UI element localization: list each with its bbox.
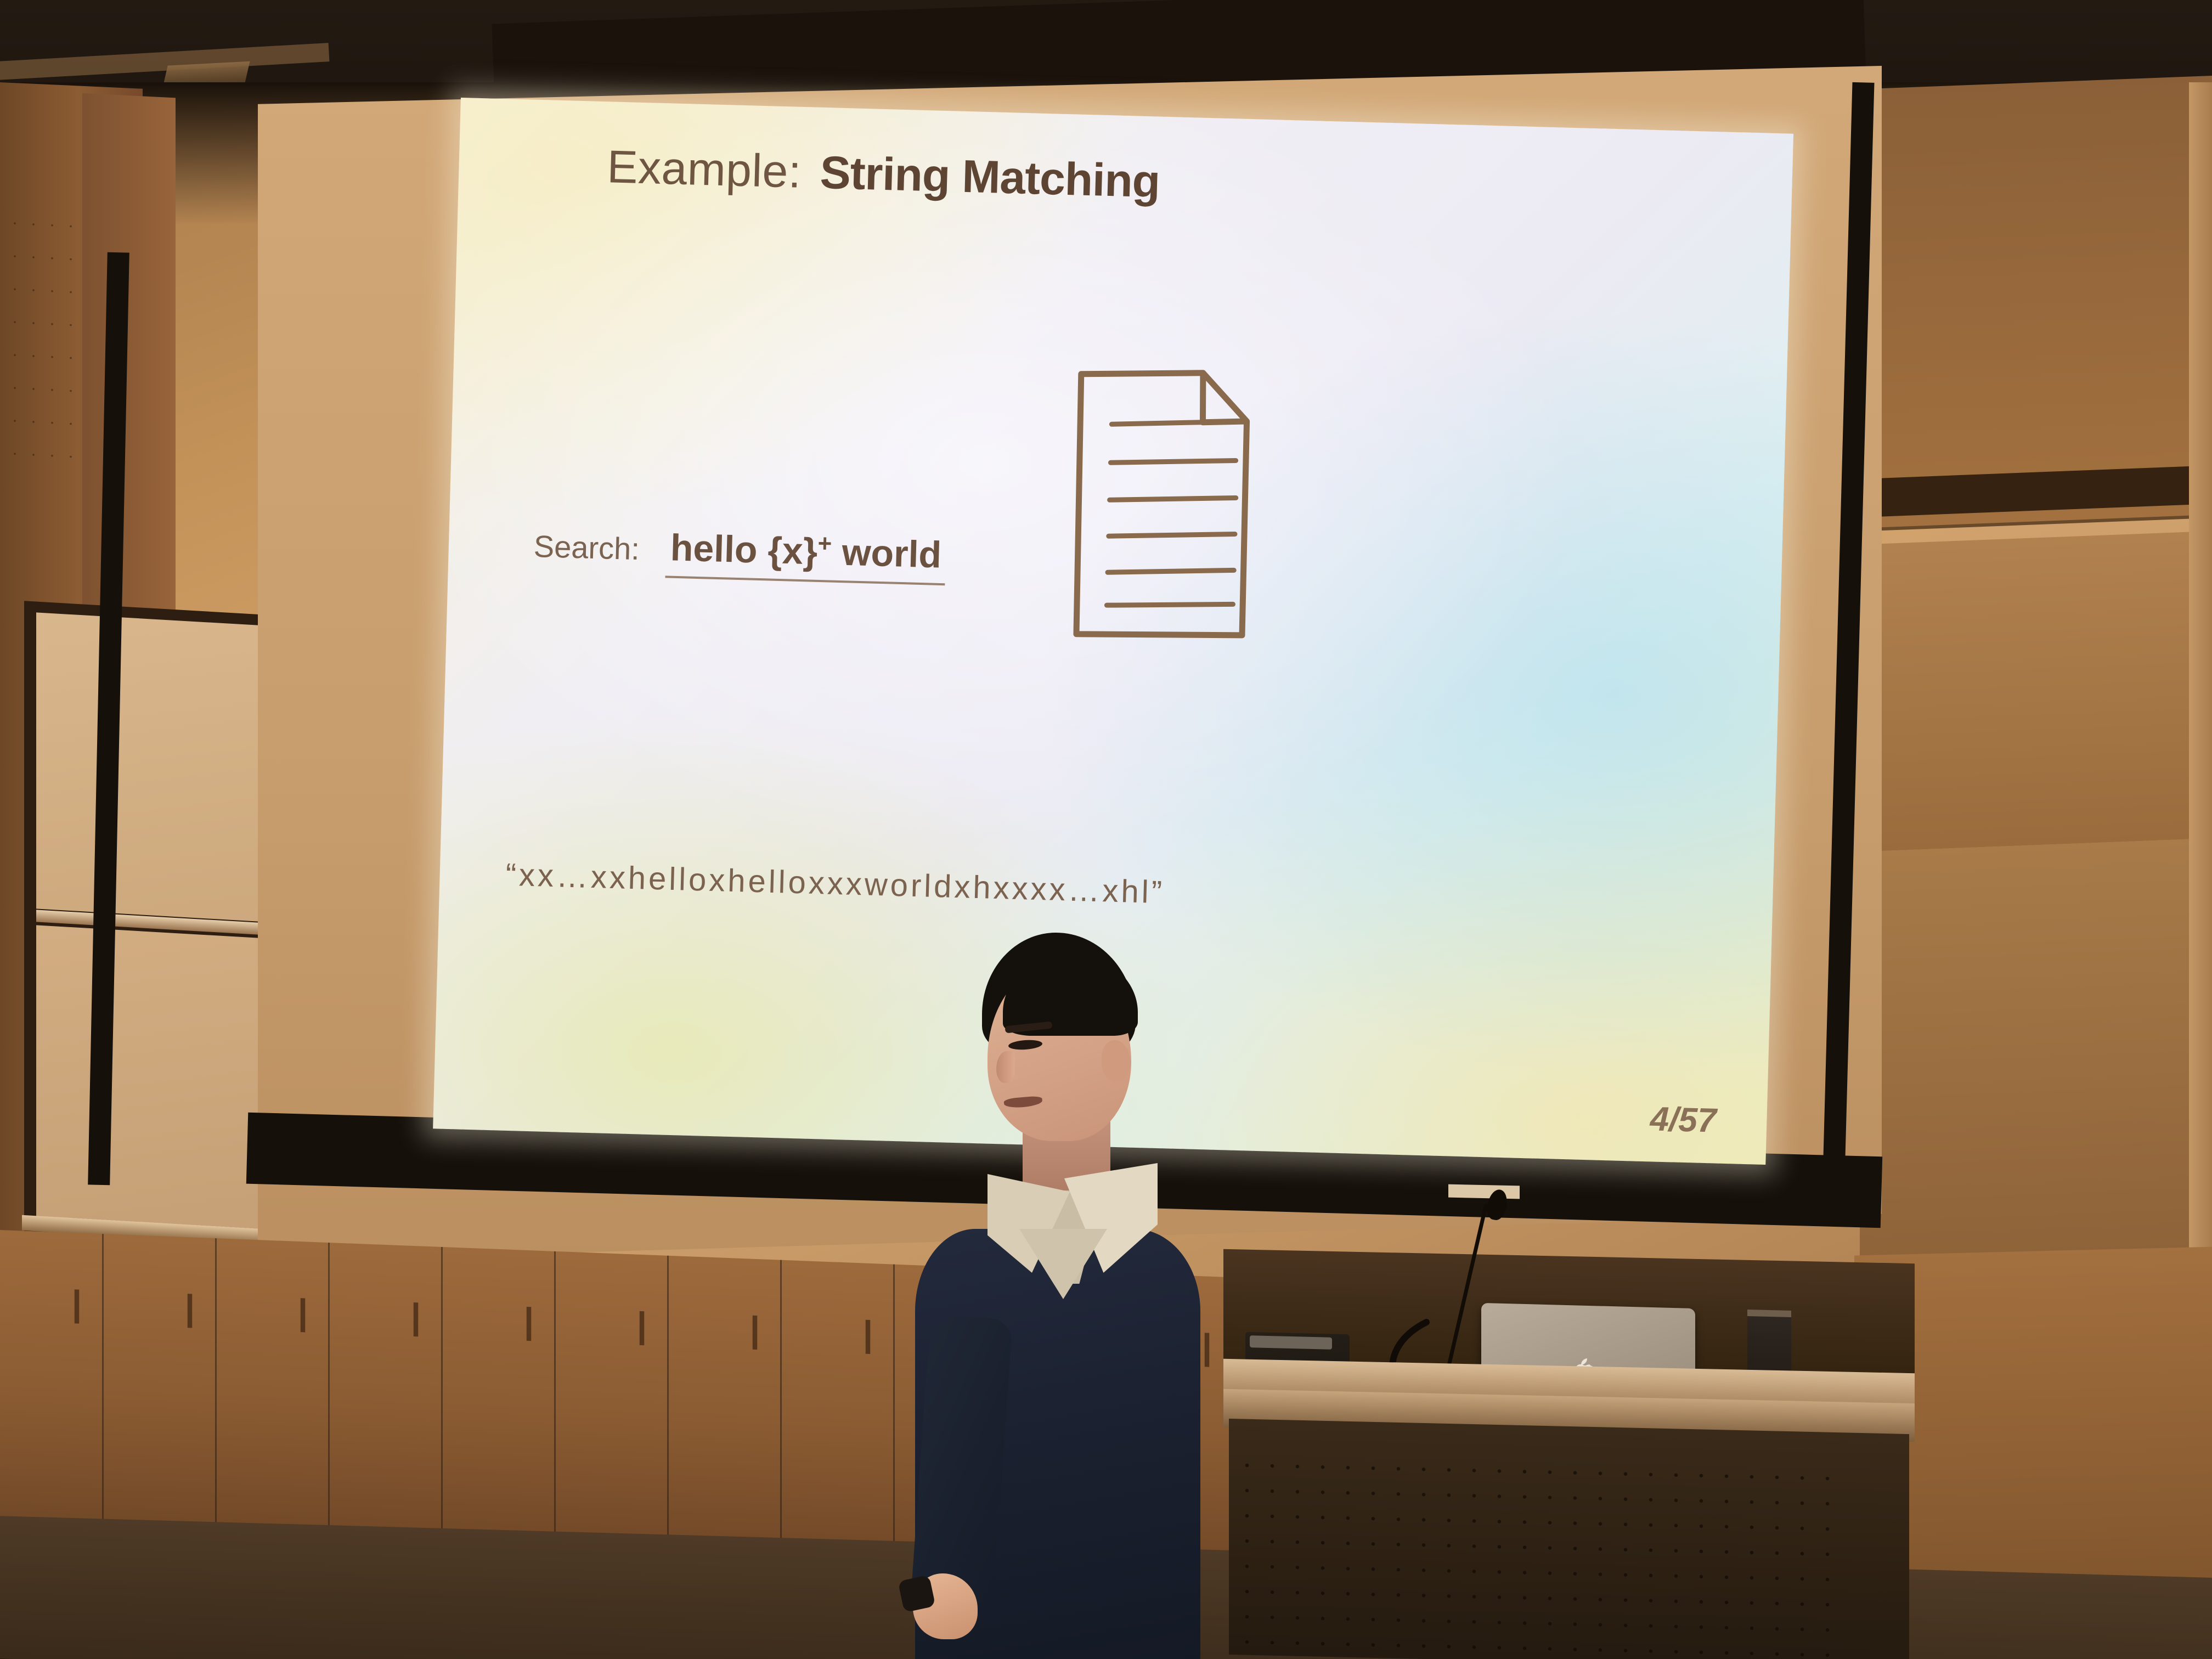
adapter-box-highlight xyxy=(1250,1335,1332,1350)
whiteboard-upper xyxy=(36,612,295,923)
presenter-nose xyxy=(996,1051,1015,1083)
presentation-clicker[interactable] xyxy=(898,1575,936,1613)
right-wall-panel-lower xyxy=(1860,838,2212,1279)
search-pattern-superscript: + xyxy=(817,530,832,557)
search-pattern-prefix: hello {x} xyxy=(670,527,818,572)
wall-light-reflection xyxy=(1448,1184,1520,1199)
whiteboard-lower xyxy=(36,925,295,1231)
corpus-string: “xx…xxhelloxhelloxxxworldxhxxxx…xhl” xyxy=(505,856,1165,911)
document-icon xyxy=(1066,364,1255,643)
presenter-ear xyxy=(1102,1040,1130,1082)
right-wall-panel-upper xyxy=(1860,75,2212,528)
slide-title-strong: String Matching xyxy=(819,146,1160,207)
search-label: Search: xyxy=(533,528,640,567)
search-pattern-suffix: world xyxy=(831,531,942,575)
lecture-hall-scene: Example:String Matching Search: hello {x… xyxy=(0,0,2212,1659)
right-wall-panel-middle xyxy=(1860,531,2212,851)
search-pattern: hello {x}+ world xyxy=(665,526,946,585)
podium-perforation xyxy=(1234,1453,1838,1659)
slide-page-number: 4/57 xyxy=(1650,1099,1717,1140)
perforated-acoustic-panel xyxy=(5,206,82,468)
presenter xyxy=(900,933,1207,1659)
slide-title: Example:String Matching xyxy=(606,140,1485,217)
slide-title-lead: Example: xyxy=(606,140,802,198)
search-row: Search: hello {x}+ world xyxy=(533,522,947,585)
